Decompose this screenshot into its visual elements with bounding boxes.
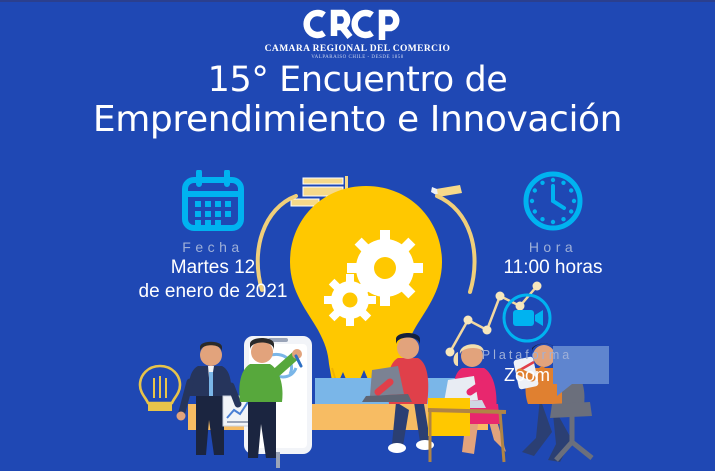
- poster-canvas: CAMARA REGIONAL DEL COMERCIO VALPARAISO …: [0, 0, 715, 471]
- table-block-yellow: [428, 398, 470, 436]
- info-label-fecha: Fecha: [118, 239, 308, 255]
- title-line-2: Emprendimiento e Innovación: [0, 100, 715, 140]
- info-label-plataforma: Plataforma: [452, 348, 602, 362]
- video-camera-icon: [501, 292, 553, 344]
- logo-name-part1: CAMARA REGIONAL DEL COMERCIO: [265, 44, 451, 54]
- info-block-hora: Hora 11:00 horas: [478, 170, 628, 279]
- logo-company-name: CAMARA REGIONAL DEL COMERCIO: [0, 44, 715, 54]
- info-label-hora: Hora: [478, 239, 628, 255]
- floor-base: [0, 430, 715, 471]
- calendar-icon: [181, 170, 245, 232]
- info-value-hora: 11:00 horas: [478, 257, 628, 279]
- logo: CAMARA REGIONAL DEL COMERCIO VALPARAISO …: [0, 6, 715, 60]
- crcp-logo-mark-icon: [298, 6, 418, 42]
- clock-icon: [522, 170, 584, 232]
- info-block-plataforma: Plataforma Zoom: [452, 292, 602, 386]
- title-line-1: 15° Encuentro de: [208, 60, 508, 100]
- small-lightbulb-outline-icon: [140, 366, 180, 411]
- page-title: 15° Encuentro de Emprendimiento e Innova…: [0, 60, 715, 140]
- info-value-fecha-line1: Martes 12: [118, 257, 308, 279]
- info-value-fecha-line2: de enero de 2021: [118, 281, 308, 303]
- info-value-plataforma: Zoom: [452, 364, 602, 386]
- bulb-aura-right: [437, 196, 475, 292]
- info-block-fecha: Fecha Martes 12 de enero de 2021: [118, 170, 308, 303]
